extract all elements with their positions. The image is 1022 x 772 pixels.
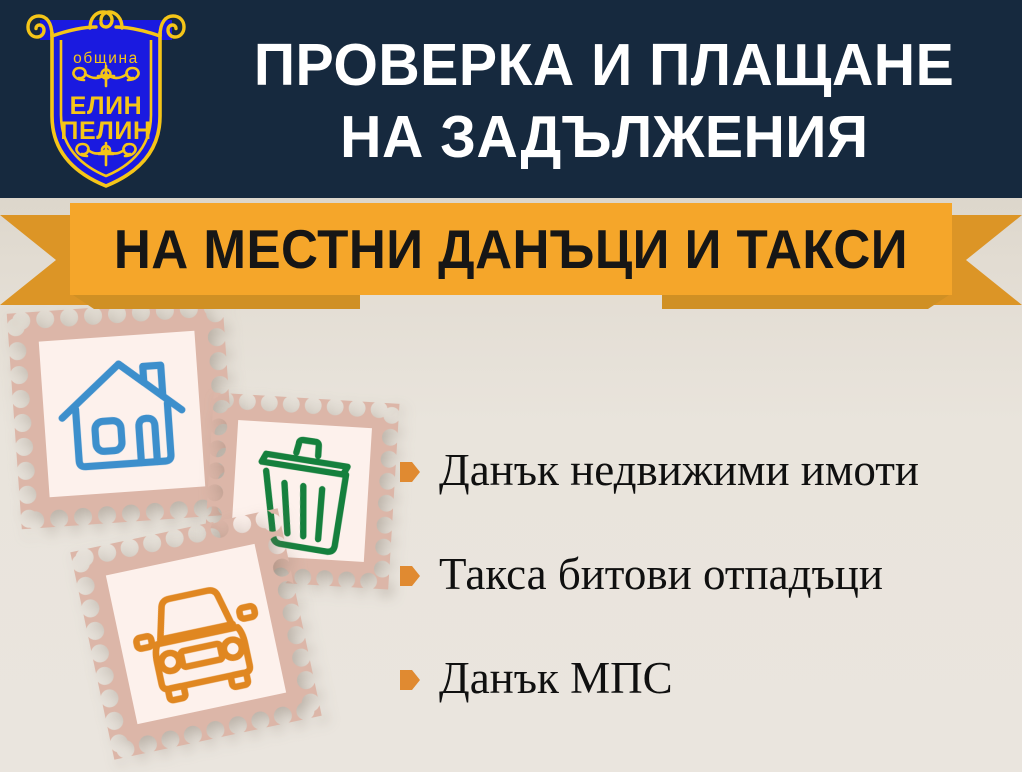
subtitle-ribbon: НА МЕСТНИ ДАНЪЦИ И ТАКСИ xyxy=(0,198,1022,310)
logo-line-2: ПЕЛИН xyxy=(60,117,151,145)
tax-type-list: Данък недвижими имоти Такса битови отпад… xyxy=(400,418,1014,730)
poster-root: община ЕЛИН ПЕЛИН xyxy=(0,0,1022,772)
logo-line-1: ЕЛИН xyxy=(70,92,143,120)
list-item[interactable]: Данък недвижими имоти xyxy=(400,418,1014,522)
header-bar: община ЕЛИН ПЕЛИН xyxy=(0,0,1022,198)
arrow-bullet-icon xyxy=(400,564,420,588)
list-item[interactable]: Данък МПС xyxy=(400,626,1014,730)
ribbon-label: НА МЕСТНИ ДАНЪЦИ И ТАКСИ xyxy=(114,220,908,278)
ribbon-fold-right xyxy=(662,293,952,309)
list-item[interactable]: Такса битови отпадъци xyxy=(400,522,1014,626)
ribbon-fold-left xyxy=(70,293,360,309)
logo-line-top: община xyxy=(73,50,139,67)
title-line-2: НА ЗАДЪЛЖЕНИЯ xyxy=(340,101,868,173)
arrow-bullet-icon xyxy=(400,668,420,692)
ribbon-band: НА МЕСТНИ ДАНЪЦИ И ТАКСИ xyxy=(70,203,952,295)
page-title: ПРОВЕРКА И ПЛАЩАНЕ НА ЗАДЪЛЖЕНИЯ xyxy=(186,16,1022,186)
title-line-1: ПРОВЕРКА И ПЛАЩАНЕ xyxy=(254,29,954,101)
list-item-label: Данък недвижими имоти xyxy=(439,444,919,496)
arrow-bullet-icon xyxy=(400,460,420,484)
stamp-real-estate xyxy=(7,299,238,530)
stamp-vehicle xyxy=(70,508,321,759)
list-item-label: Такса битови отпадъци xyxy=(439,548,883,600)
list-item-label: Данък МПС xyxy=(439,652,673,704)
stamp-collage xyxy=(0,300,400,772)
municipality-logo: община ЕЛИН ПЕЛИН xyxy=(26,6,186,192)
